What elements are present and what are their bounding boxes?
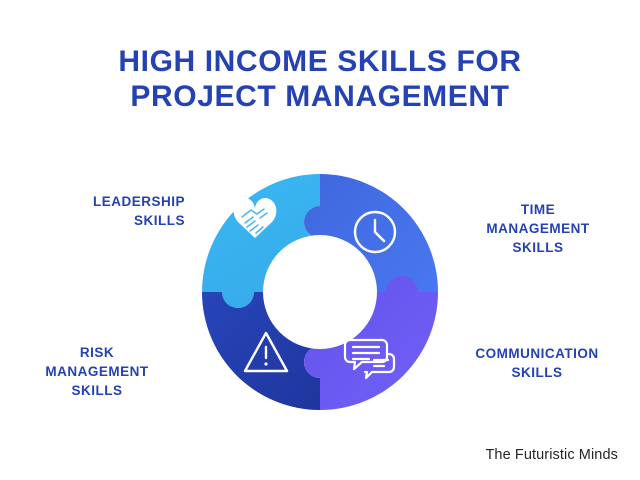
label-risk-line-2: MANAGEMENT	[8, 362, 186, 381]
label-communication-line-2: SKILLS	[442, 363, 632, 382]
label-leadership-line-1: LEADERSHIP	[10, 192, 185, 211]
infographic-canvas: HIGH INCOME SKILLS FOR PROJECT MANAGEMEN…	[0, 0, 640, 480]
footer-attribution: The Futuristic Minds	[485, 447, 618, 463]
puzzle-donut-wheel	[200, 166, 440, 418]
label-risk-line-1: RISK	[8, 343, 186, 362]
label-communication-line-1: COMMUNICATION	[442, 344, 632, 363]
label-time-line-1: TIME	[448, 200, 628, 219]
label-leadership-skills: LEADERSHIP SKILLS	[10, 192, 185, 230]
label-time-management-skills: TIME MANAGEMENT SKILLS	[448, 200, 628, 257]
page-title-line-1: HIGH INCOME SKILLS FOR	[0, 44, 640, 79]
label-leadership-line-2: SKILLS	[10, 211, 185, 230]
label-time-line-2: MANAGEMENT	[448, 219, 628, 238]
page-title-line-2: PROJECT MANAGEMENT	[0, 79, 640, 114]
label-communication-skills: COMMUNICATION SKILLS	[442, 344, 632, 382]
page-title: HIGH INCOME SKILLS FOR PROJECT MANAGEMEN…	[0, 44, 640, 115]
label-risk-management-skills: RISK MANAGEMENT SKILLS	[8, 343, 186, 400]
label-time-line-3: SKILLS	[448, 238, 628, 257]
label-risk-line-3: SKILLS	[8, 381, 186, 400]
